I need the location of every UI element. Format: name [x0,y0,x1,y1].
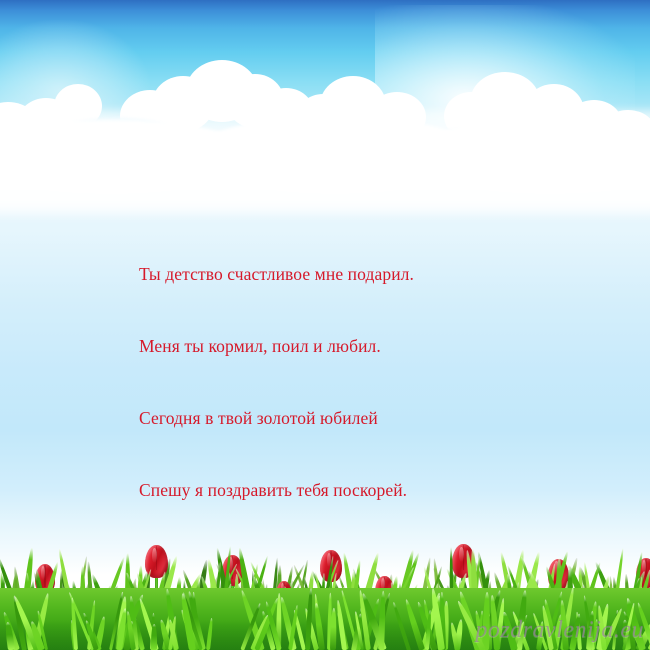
grass-blade [151,624,157,650]
poem-line: Ты детство счастливое мне подарил. [139,262,609,286]
watermark: pozdravlenija.eu [475,617,644,644]
cloud-bank [0,58,650,183]
poem-line: Сегодня в твой золотой юбилей [139,406,609,430]
poem-stanza: Ты детство счастливое мне подарил. Меня … [139,214,609,550]
poem-line: Меня ты кормил, поил и любил. [139,334,609,358]
poem-line: Спешу я поздравить тебя поскорей. [139,478,609,502]
greeting-card: Ты детство счастливое мне подарил. Меня … [0,0,650,650]
